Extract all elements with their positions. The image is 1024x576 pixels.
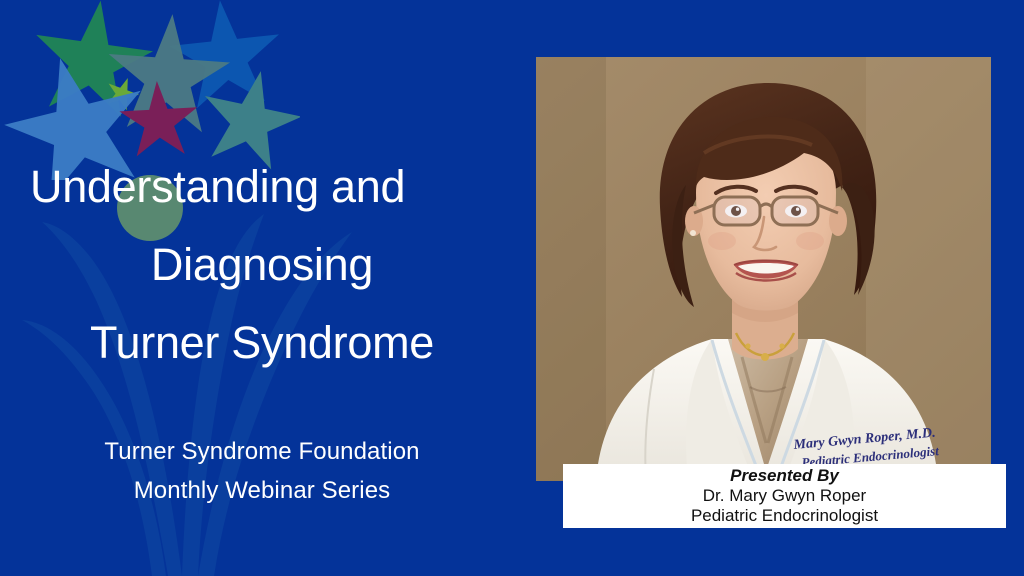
slide-title: Understanding and Diagnosing Turner Synd…: [8, 148, 516, 382]
title-line-2: Diagnosing: [8, 226, 516, 304]
speaker-portrait-illustration: Mary Gwyn Roper, M.D. Pediatric Endocrin…: [536, 57, 991, 481]
caption-presenter-name: Dr. Mary Gwyn Roper: [703, 486, 866, 506]
earring: [690, 230, 696, 236]
presenter-caption: Presented By Dr. Mary Gwyn Roper Pediatr…: [563, 464, 1006, 528]
webinar-title-slide: Understanding and Diagnosing Turner Synd…: [0, 0, 1024, 576]
title-line-1: Understanding and: [8, 148, 516, 226]
subtitle-line-2: Monthly Webinar Series: [8, 471, 516, 510]
necklace-pendant: [761, 353, 769, 361]
subtitle-line-1: Turner Syndrome Foundation: [8, 432, 516, 471]
speaker-photo: Mary Gwyn Roper, M.D. Pediatric Endocrin…: [536, 57, 991, 481]
title-line-3: Turner Syndrome: [8, 304, 516, 382]
slide-subtitle: Turner Syndrome Foundation Monthly Webin…: [8, 432, 516, 510]
caption-presented-by: Presented By: [730, 466, 839, 486]
caption-presenter-role: Pediatric Endocrinologist: [691, 506, 878, 526]
